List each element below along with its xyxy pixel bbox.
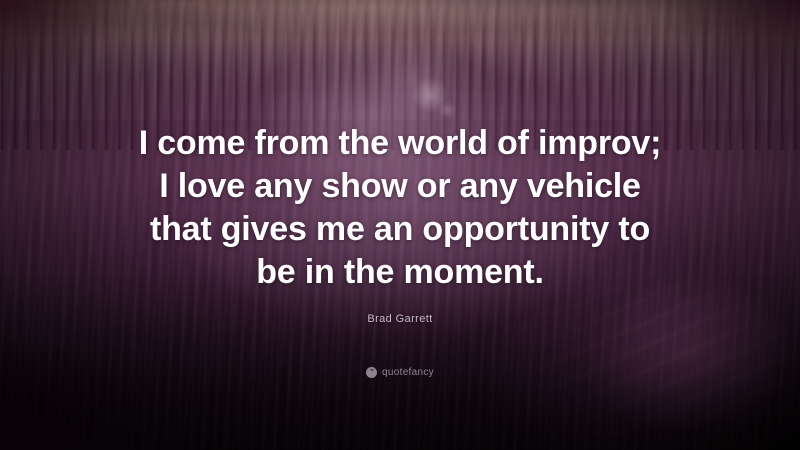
quotefancy-badge-icon: ”	[366, 367, 377, 378]
quote-line: that gives me an opportunity to	[60, 208, 740, 251]
poster-content: I come from the world of improv; I love …	[0, 0, 800, 450]
quote-line: be in the moment.	[60, 251, 740, 294]
quote-poster: I come from the world of improv; I love …	[0, 0, 800, 450]
quote-text: I come from the world of improv; I love …	[60, 122, 740, 294]
quote-line: I come from the world of improv;	[60, 122, 740, 165]
quote-author: Brad Garrett	[0, 312, 800, 326]
watermark[interactable]: ” quotefancy	[0, 367, 800, 378]
watermark-label: quotefancy	[382, 367, 434, 378]
quote-line: I love any show or any vehicle	[60, 165, 740, 208]
